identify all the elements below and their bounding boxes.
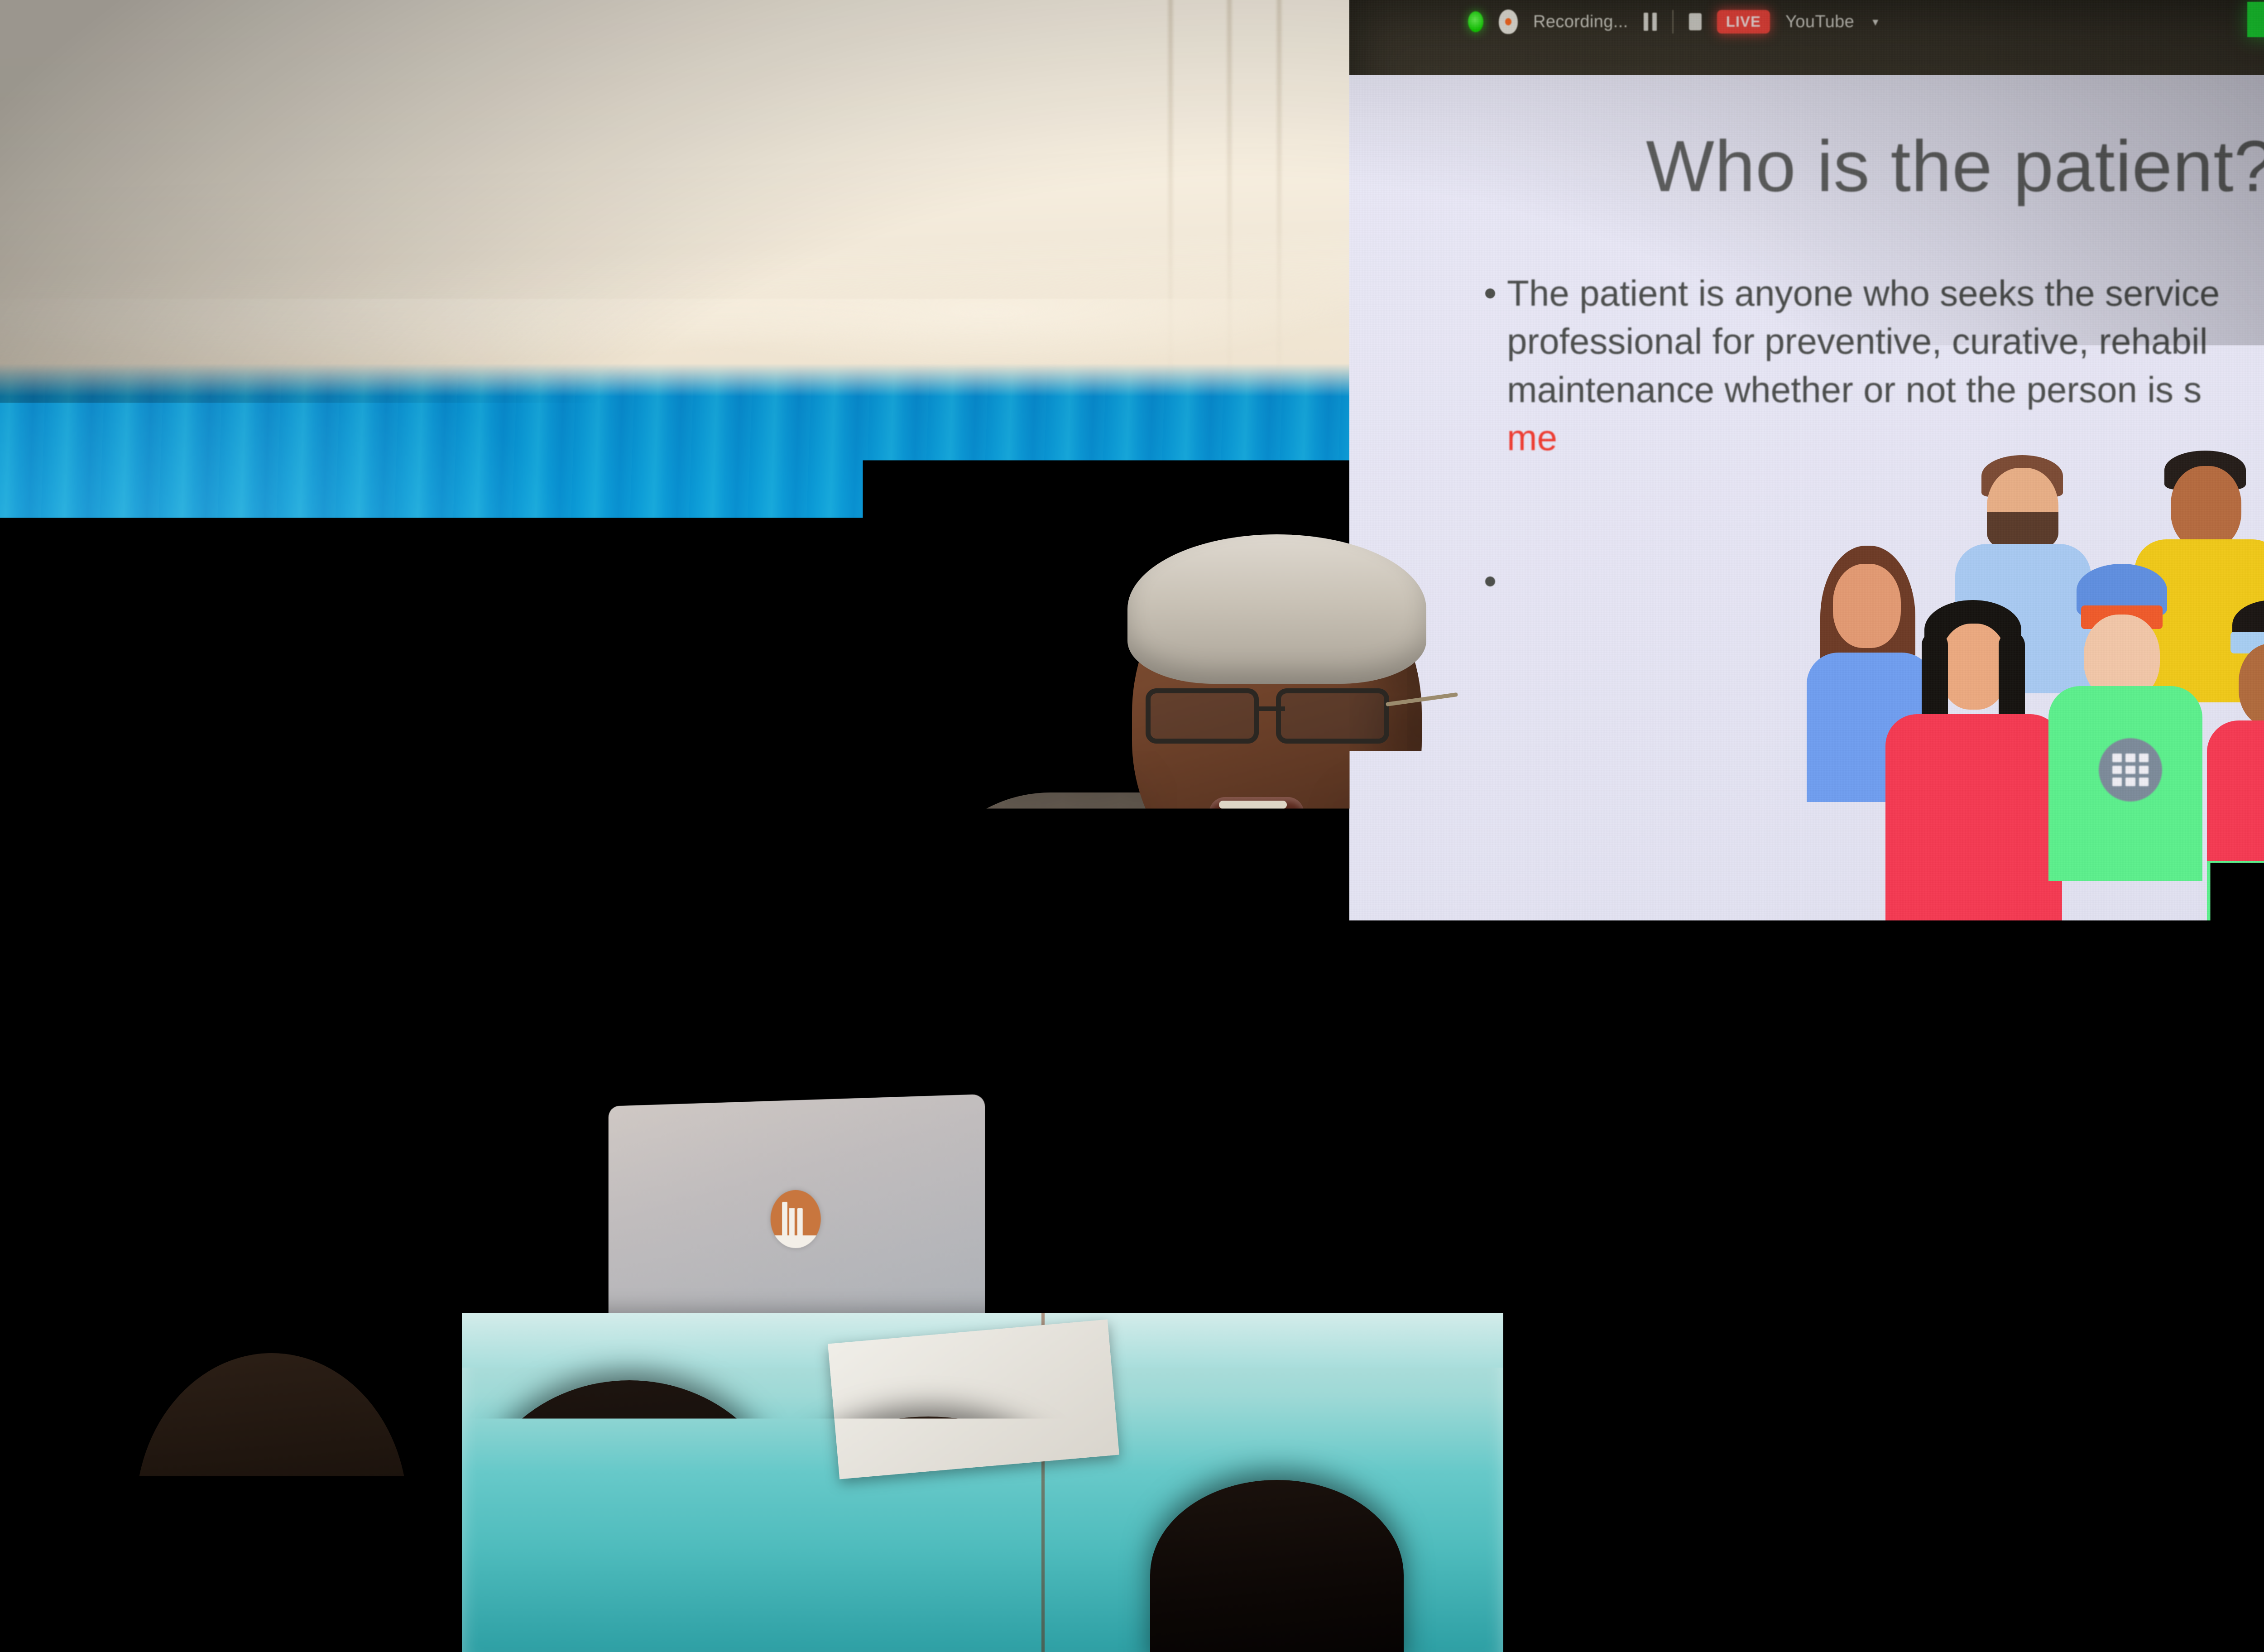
screenshot-root: Recording... LIVE YouTube ▾ You are view… xyxy=(0,0,2264,1652)
striped-necktie xyxy=(1236,820,1322,1354)
record-icon[interactable] xyxy=(1499,10,1518,34)
grid-apps-icon[interactable] xyxy=(2099,738,2162,802)
bullet-icon xyxy=(1485,288,1495,298)
diverse-people-illustration xyxy=(1802,451,2264,822)
bullet-line-1: The patient is anyone who seeks the serv… xyxy=(1507,273,2220,313)
pause-icon[interactable] xyxy=(1644,13,1657,31)
ceiling-drape xyxy=(0,0,1386,380)
participants-count: 311 xyxy=(1897,1241,1938,1270)
chevron-down-icon[interactable]: ▾ xyxy=(1872,15,1878,29)
chevron-up-icon[interactable]: ˄ xyxy=(1958,1249,1971,1262)
list-item: The patient is anyone who seeks the serv… xyxy=(1485,269,2264,462)
slide-title: Who is the patient? xyxy=(1646,125,2264,208)
bullet-line-3: maintenance whether or not the person is… xyxy=(1507,370,2202,410)
eyeglasses xyxy=(1141,688,1417,747)
live-badge: LIVE xyxy=(1717,10,1770,34)
hp-logo xyxy=(770,1190,820,1248)
stop-icon[interactable] xyxy=(1689,13,1702,30)
zoom-recording-toolbar[interactable]: Recording... LIVE YouTube ▾ xyxy=(1349,0,2264,43)
audience-head xyxy=(1847,1272,2255,1652)
recording-label: Recording... xyxy=(1533,12,1628,32)
toolbar-divider xyxy=(1672,10,1674,34)
bullet-text-block: The patient is anyone who seeks the serv… xyxy=(1507,269,2220,462)
mouth xyxy=(1209,797,1304,830)
platform-label[interactable]: YouTube xyxy=(1785,12,1854,32)
left-hand xyxy=(1087,1016,1254,1212)
participants-label: Participants xyxy=(1859,1275,1967,1299)
grey-hair xyxy=(1127,534,1426,684)
green-status-dot xyxy=(1468,11,1483,32)
people-icon xyxy=(1856,1244,1889,1268)
viewing-banner: You are viewing AnneKi xyxy=(2247,2,2264,37)
bullet-line-2: professional for preventive, curative, r… xyxy=(1507,321,2207,361)
